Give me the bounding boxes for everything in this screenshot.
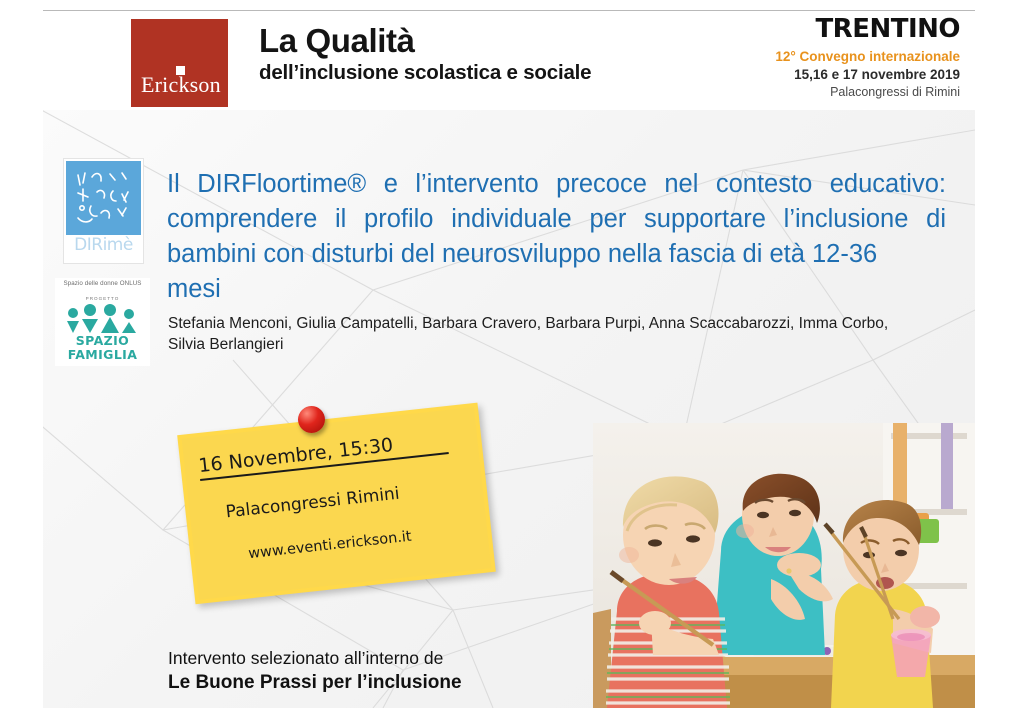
family-figures-icon — [63, 304, 143, 334]
classroom-photo — [593, 423, 975, 708]
sticky-note: 16 Novembre, 15:30 Palacongressi Rimini … — [177, 402, 505, 614]
spazio-famiglia-logo: Spazio delle donne ONLUS PROGETTO SPAZIO… — [55, 278, 150, 366]
conference-edition: 12° Convegno internazionale — [716, 49, 960, 64]
dirime-wordmark: DIRimè — [64, 235, 143, 255]
authors-list: Stefania Menconi, Giulia Campatelli, Bar… — [168, 313, 928, 355]
header-divider — [43, 10, 975, 11]
presentation-slide: Erickson La Qualità dell’inclusione scol… — [0, 0, 1024, 724]
selection-caption: Intervento selezionato all’interno de Le… — [168, 646, 638, 695]
trentino-logo-text: TRENTINO — [815, 16, 960, 42]
dirime-squiggles-icon — [66, 161, 141, 235]
trentino-block: TRENTINO 12° Convegno internazionale 15,… — [716, 16, 960, 99]
conference-venue: Palacongressi di Rimini — [716, 85, 960, 99]
erickson-logo: Erickson — [131, 19, 228, 107]
presentation-title-last-line: mesi — [167, 272, 946, 307]
conference-title-line2: dell’inclusione scolastica e sociale — [259, 61, 679, 85]
dirime-logo: DIRimè — [63, 158, 144, 264]
conference-title: La Qualità dell’inclusione scolastica e … — [259, 24, 679, 85]
spazio-word-spazio: SPAZIO — [55, 335, 150, 348]
erickson-logo-text: Erickson — [141, 74, 218, 96]
conference-title-line1: La Qualità — [259, 24, 679, 59]
dirime-logo-square — [66, 161, 141, 235]
presentation-title-text: Il DIRFloortime® e l’intervento precoce … — [167, 170, 946, 268]
caption-line2: Le Buone Prassi per l’inclusione — [168, 670, 638, 695]
caption-line1: Intervento selezionato all’interno de — [168, 646, 638, 670]
photo-illustration — [593, 423, 975, 708]
spazio-progetto-label: PROGETTO — [55, 296, 150, 301]
spazio-word-famiglia: FAMIGLIA — [55, 349, 150, 362]
sticky-note-body: 16 Novembre, 15:30 Palacongressi Rimini … — [177, 403, 496, 605]
pushpin-icon — [298, 406, 325, 433]
presentation-title: Il DIRFloortime® e l’intervento precoce … — [167, 167, 946, 307]
spazio-onlus-label: Spazio delle donne ONLUS — [55, 280, 150, 287]
conference-dates: 15,16 e 17 novembre 2019 — [716, 67, 960, 82]
